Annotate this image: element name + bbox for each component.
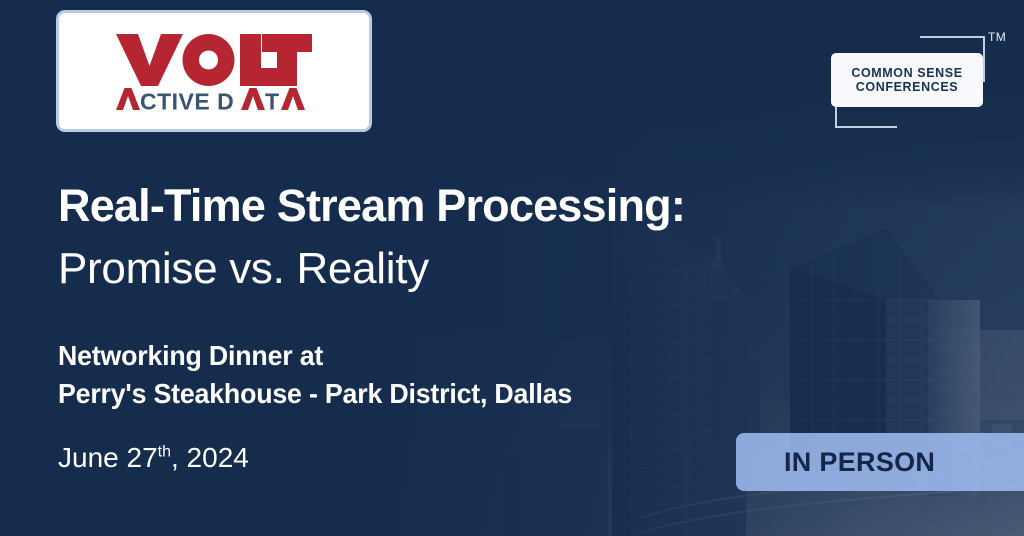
event-date: June 27th, 2024 xyxy=(58,444,249,472)
page-subtitle: Promise vs. Reality xyxy=(58,247,429,291)
event-banner: CTIVE D T COMMON SENSE CONFERENCES TM Re… xyxy=(0,0,1024,536)
status-badge-label: IN PERSON xyxy=(784,447,935,478)
trademark-icon: TM xyxy=(988,30,1006,44)
event-date-prefix: June 27 xyxy=(58,442,158,473)
event-venue-line-1: Networking Dinner at xyxy=(58,337,572,375)
page-title: Real-Time Stream Processing: xyxy=(58,183,685,228)
event-date-ordinal: th xyxy=(158,444,171,461)
event-date-suffix: , 2024 xyxy=(171,442,249,473)
status-badge[interactable]: IN PERSON xyxy=(736,433,1024,491)
event-venue-line-2: Perry's Steakhouse - Park District, Dall… xyxy=(58,375,572,413)
event-venue: Networking Dinner at Perry's Steakhouse … xyxy=(58,337,572,412)
